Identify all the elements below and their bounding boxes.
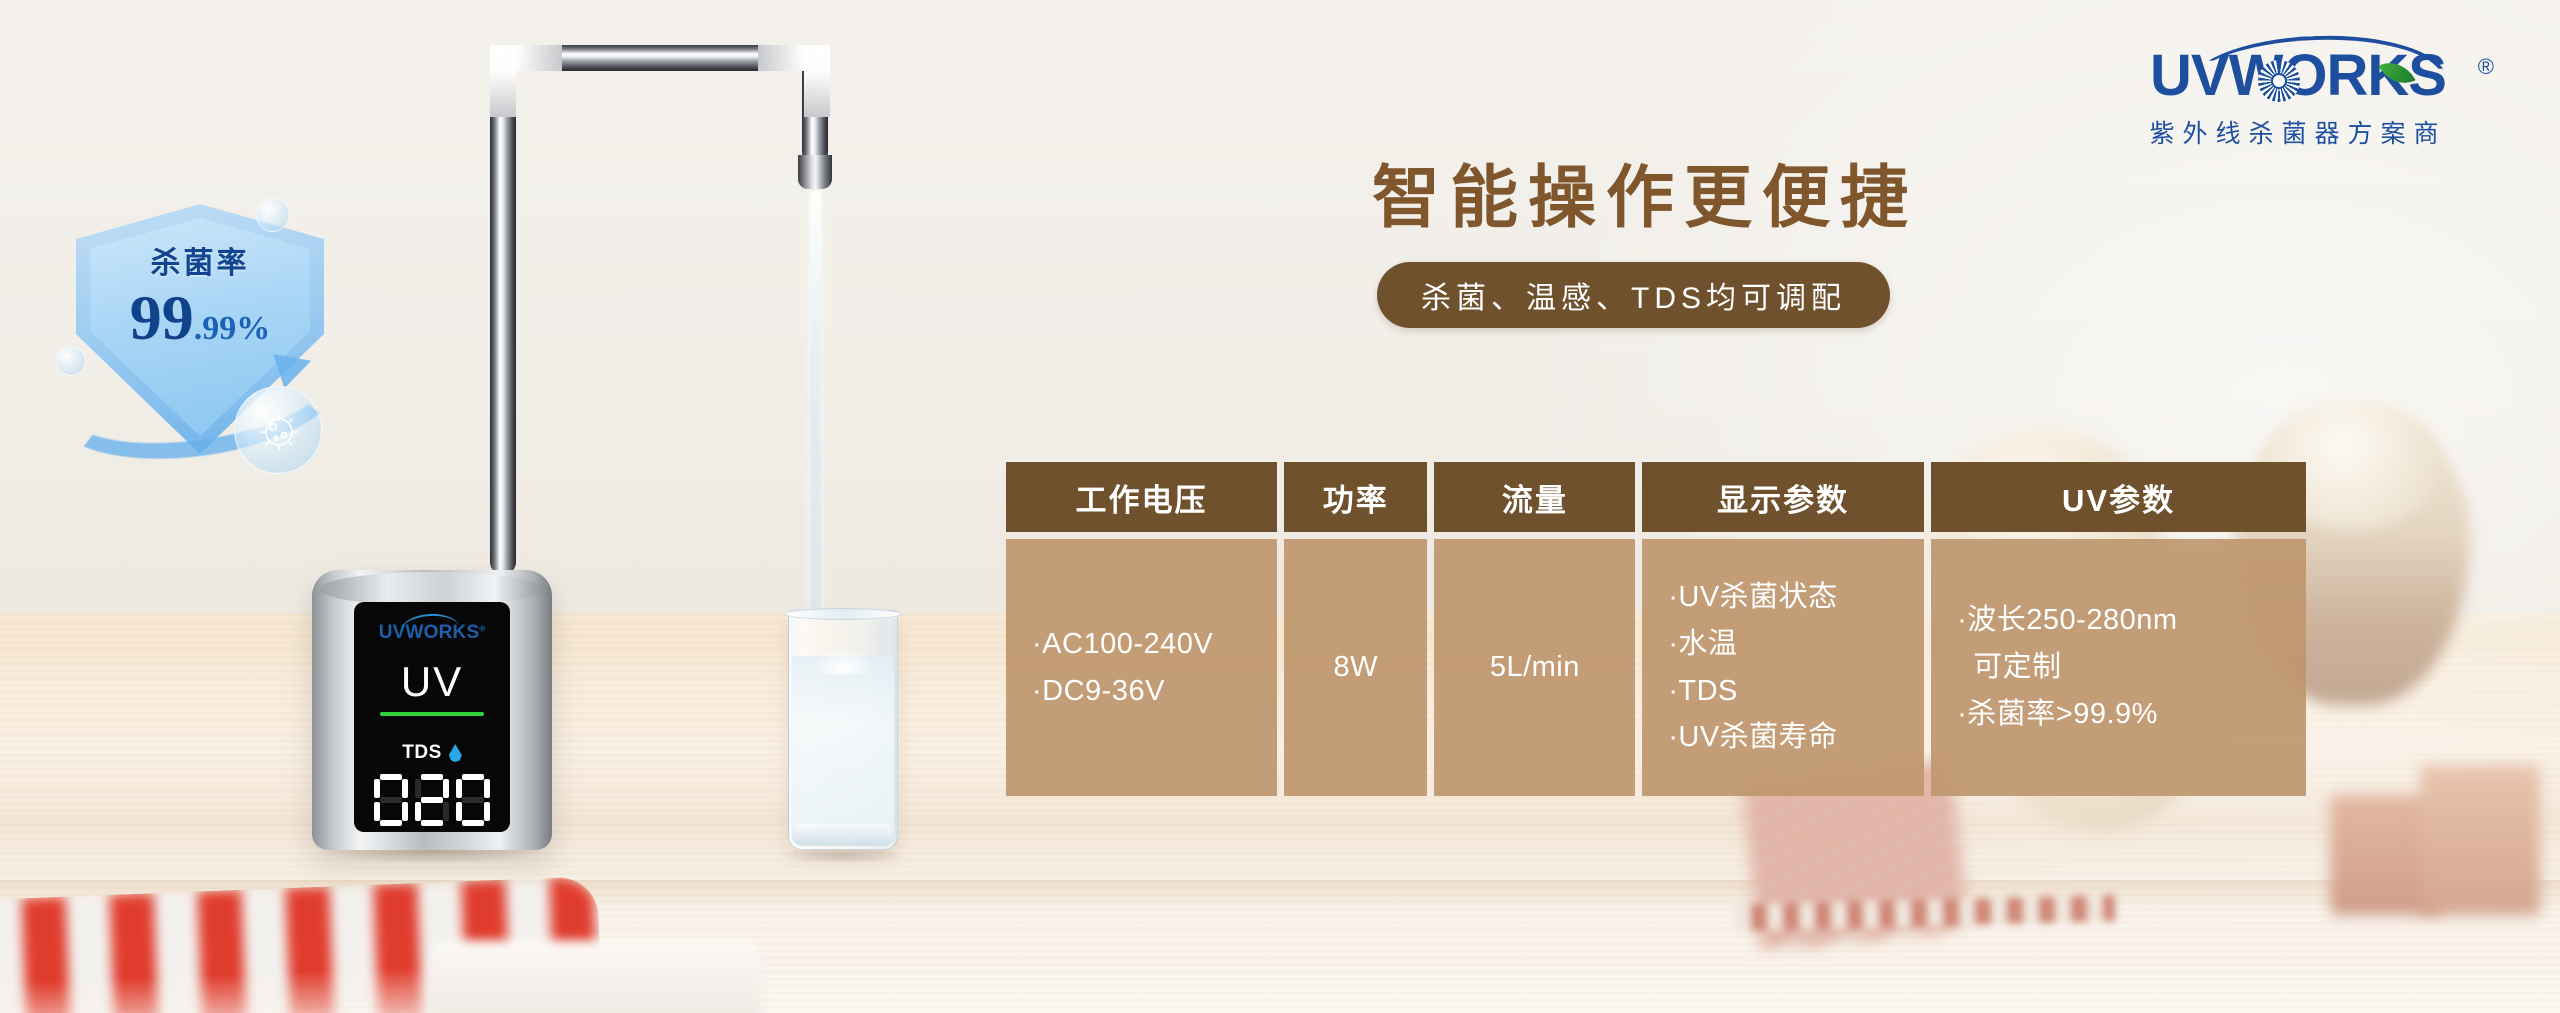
water-drop-icon (449, 744, 462, 762)
water-glass (788, 610, 898, 850)
germ-icon (255, 407, 303, 455)
spec-line: 8W (1333, 644, 1378, 691)
brand-logo-mark: UVWORKS ® (2098, 40, 2498, 112)
glass-base (792, 824, 894, 846)
spec-column-power: 功率 8W (1284, 462, 1427, 796)
device-top-cap (320, 572, 544, 606)
shield-text-group: 杀菌率 99 .99% (90, 238, 310, 350)
water-stream (810, 190, 821, 620)
faucet-left-tube (490, 55, 516, 575)
spec-header-voltage: 工作电压 (1006, 462, 1277, 532)
spec-cell-flow: 5L/min (1434, 539, 1635, 796)
badge-rate: 99 .99% (90, 286, 310, 350)
spec-line: ·UV杀菌寿命 (1668, 714, 1837, 761)
sterilization-rate-badge: 杀菌率 99 .99% (48, 186, 348, 496)
white-bowl (430, 940, 760, 1013)
brand-logo: UVWORKS ® 紫外线杀菌器方案商 (2098, 40, 2498, 150)
spec-column-display: 显示参数 ·UV杀菌状态 ·水温 ·TDS ·UV杀菌寿命 (1642, 462, 1924, 796)
spec-header-display: 显示参数 (1642, 462, 1924, 532)
glass-water-fill (792, 656, 894, 844)
glass-rim (785, 608, 901, 620)
spec-header-power: 功率 (1284, 462, 1427, 532)
spec-header-uv: UV参数 (1931, 462, 2306, 532)
spec-cell-uv: ·波长250-280nm 可定制 ·杀菌率>99.9% (1931, 539, 2306, 796)
spec-line: ·AC100-240V (1032, 621, 1213, 668)
spec-cell-power: 8W (1284, 539, 1427, 796)
spec-line: ·杀菌率>99.9% (1957, 691, 2158, 738)
seg-digit-3 (456, 774, 490, 826)
spec-column-voltage: 工作电压 ·AC100-240V ·DC9-36V (1006, 462, 1277, 796)
bubble-icon-1 (256, 198, 290, 232)
screen-status-bar (380, 712, 484, 716)
screen-tds-label: TDS (402, 742, 442, 764)
sunburst-icon (2258, 60, 2300, 102)
page-title: 智能操作更便捷 (1372, 142, 1918, 241)
registered-mark-icon: ® (2478, 54, 2494, 80)
spec-cell-display: ·UV杀菌状态 ·水温 ·TDS ·UV杀菌寿命 (1642, 539, 1924, 796)
badge-rate-main: 99 (130, 286, 194, 350)
spec-line: 可定制 (1957, 644, 2062, 691)
spec-column-flow: 流量 5L/min (1434, 462, 1635, 796)
spec-cell-voltage: ·AC100-240V ·DC9-36V (1006, 539, 1277, 796)
germ-bubble (234, 386, 322, 474)
uv-sterilizer-device: UVWORKS® UV TDS (312, 570, 552, 860)
spec-header-flow: 流量 (1434, 462, 1635, 532)
screen-brand-logo: UVWORKS® (379, 622, 486, 644)
spec-line: 5L/min (1490, 644, 1580, 691)
badge-title: 杀菌率 (90, 238, 310, 282)
screen-tds-value (374, 774, 490, 826)
feature-pill-label: 杀菌、温感、TDS均可调配 (1421, 273, 1846, 317)
spec-line: ·TDS (1668, 668, 1738, 715)
seg-digit-2 (415, 774, 449, 826)
faucet-spout (798, 155, 832, 189)
glass-splash (810, 646, 876, 674)
spec-line: ·DC9-36V (1032, 668, 1165, 715)
bubble-icon-2 (56, 346, 86, 376)
spec-column-uv: UV参数 ·波长250-280nm 可定制 ·杀菌率>99.9% (1931, 462, 2306, 796)
wooden-block-b (2420, 765, 2540, 915)
screen-tds-row: TDS (402, 742, 462, 764)
seg-digit-1 (374, 774, 408, 826)
spec-line: ·UV杀菌状态 (1668, 574, 1837, 621)
spec-table: 工作电压 ·AC100-240V ·DC9-36V 功率 8W 流量 5L/mi… (1006, 462, 2306, 796)
badge-rate-decimal: .99% (194, 312, 271, 346)
screen-logo-registered-icon: ® (479, 625, 485, 634)
product-banner: UVWORKS® UV TDS (0, 0, 2560, 1013)
spec-line: ·水温 (1668, 621, 1737, 668)
spec-line: ·波长250-280nm (1957, 597, 2177, 644)
brand-tagline: 紫外线杀菌器方案商 (2098, 114, 2498, 150)
screen-mode-label: UV (401, 658, 463, 706)
device-display-screen[interactable]: UVWORKS® UV TDS (354, 602, 510, 832)
feature-pill: 杀菌、温感、TDS均可调配 (1377, 262, 1890, 328)
chrome-faucet (410, 45, 830, 565)
screen-logo-arc-icon (400, 612, 459, 630)
